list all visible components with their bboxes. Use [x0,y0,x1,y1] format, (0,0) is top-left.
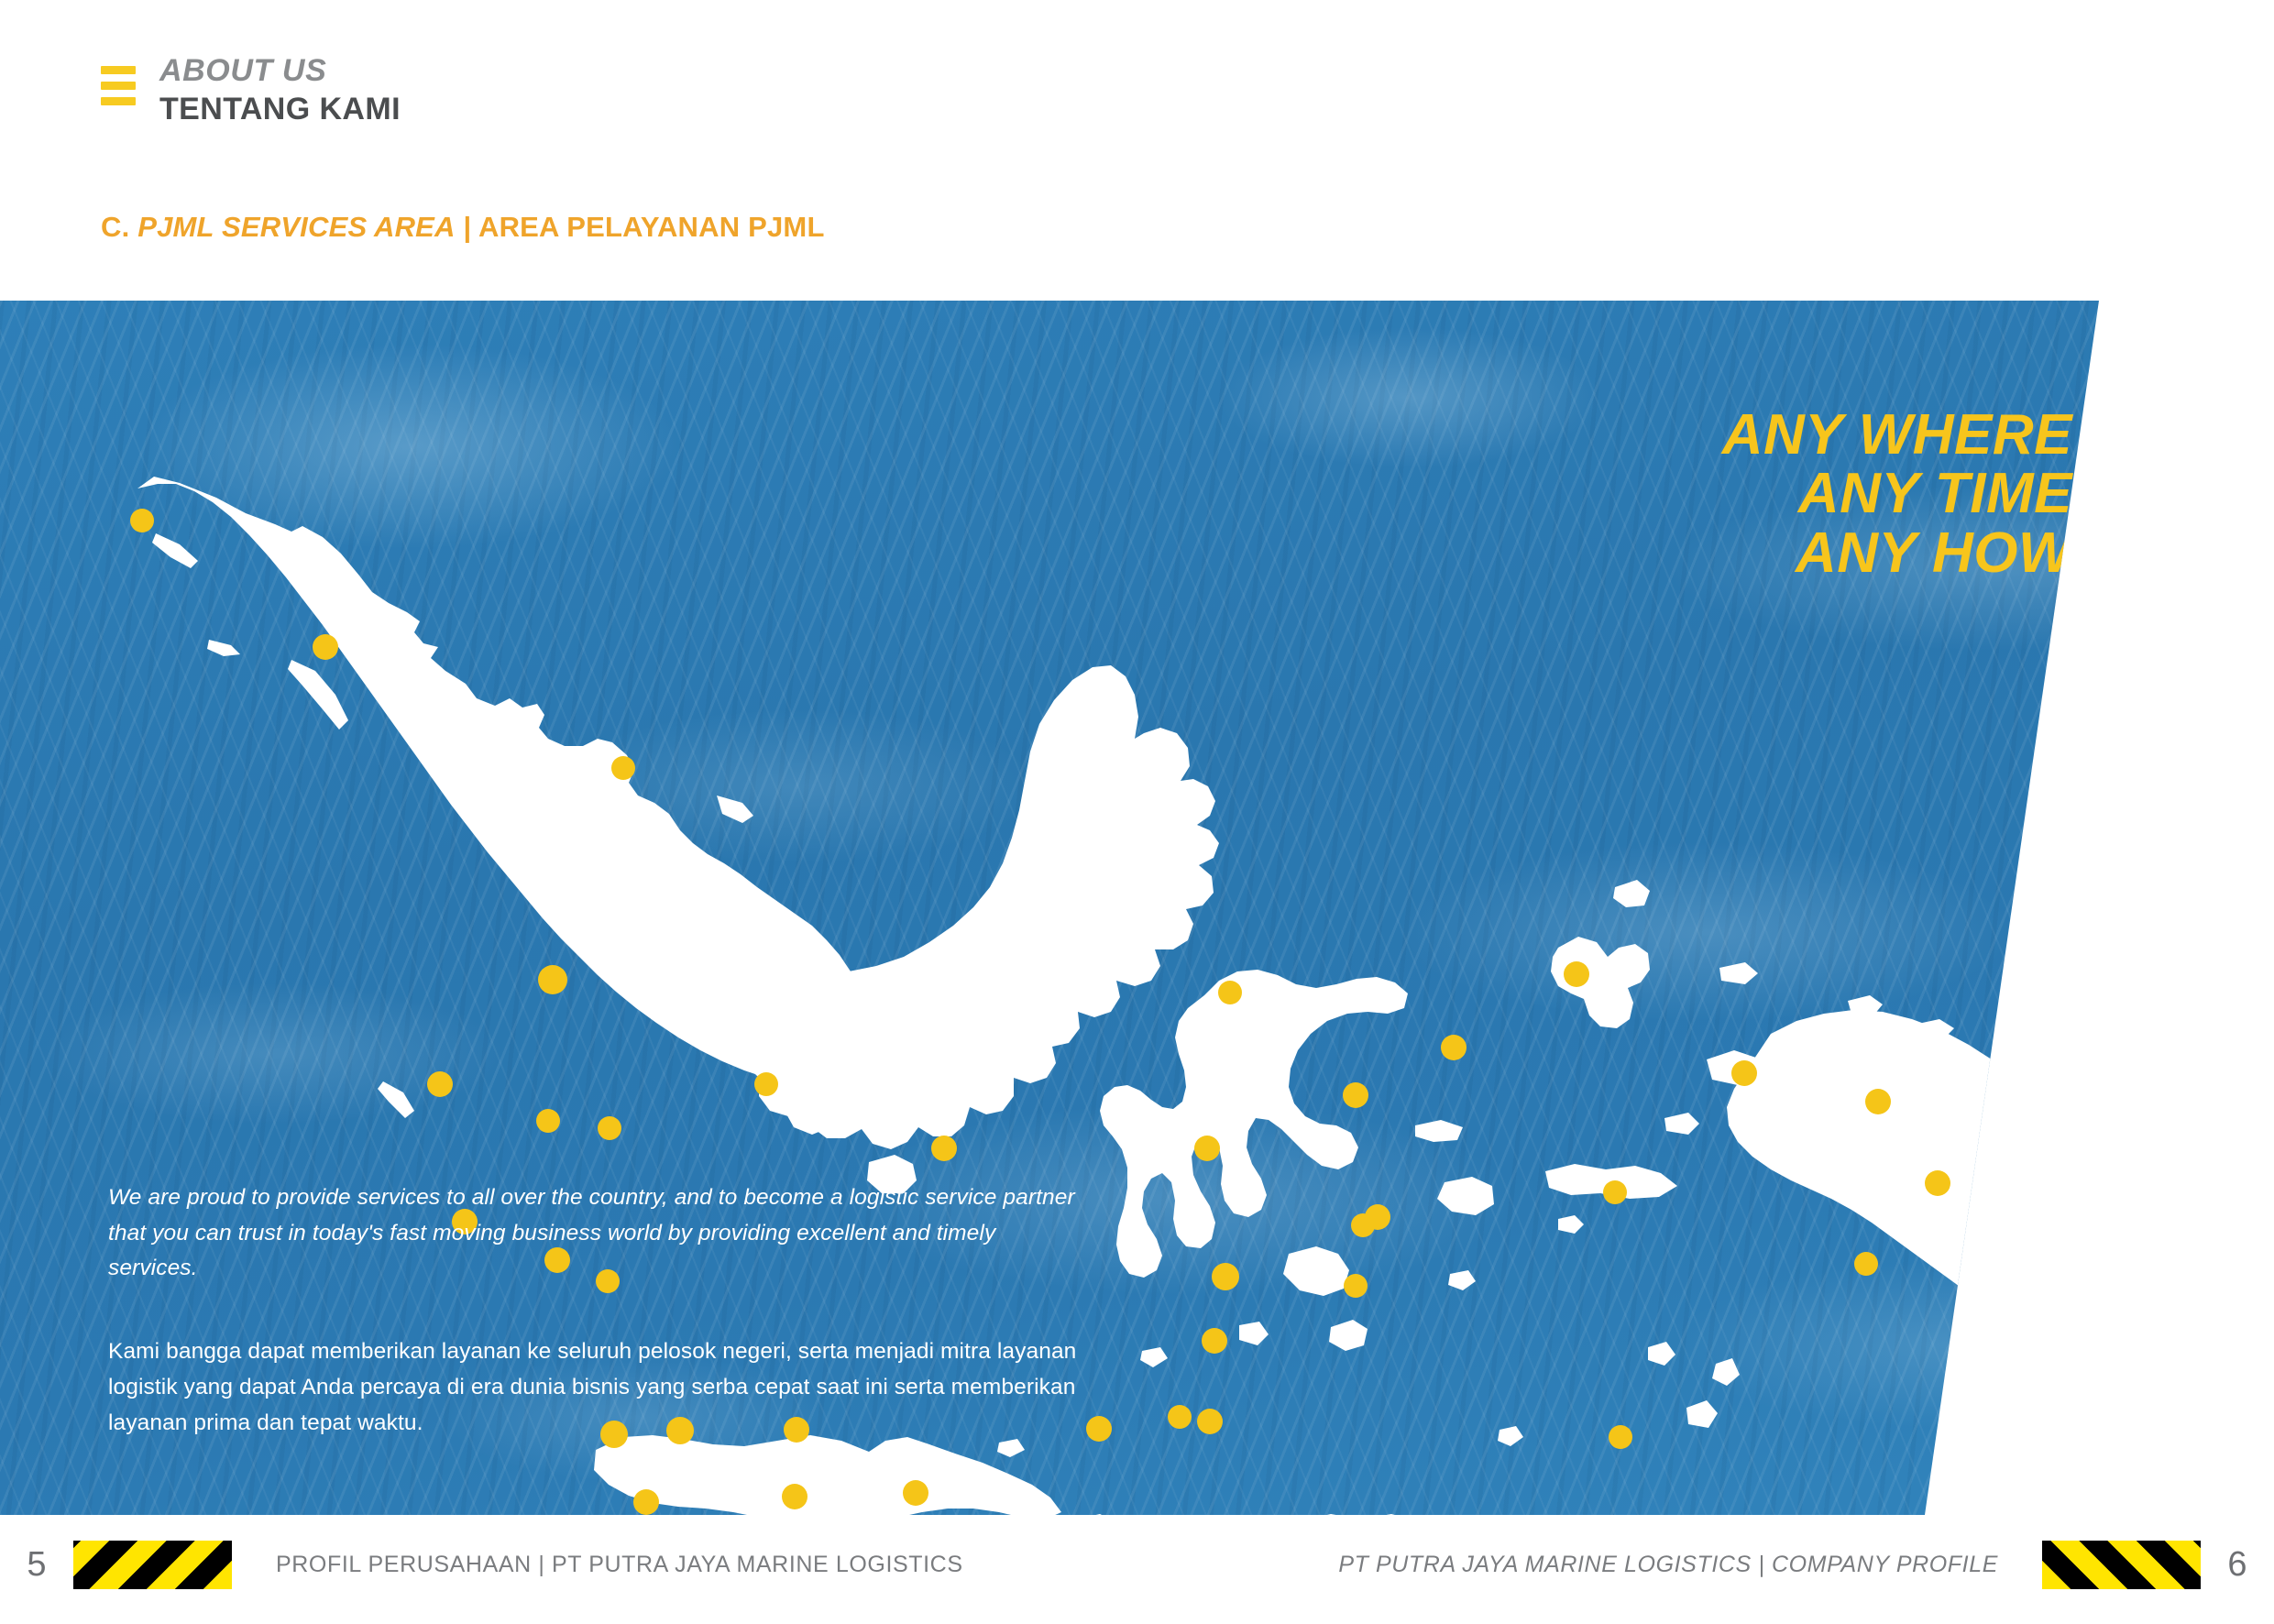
islet-3 [1140,1347,1168,1367]
description-block: We are proud to provide services to all … [108,1180,1080,1441]
island-selayar [1239,1322,1269,1345]
section-title-en: PJML SERVICES AREA [137,211,455,243]
hamburger-bar-2 [101,82,136,90]
hamburger-icon[interactable] [101,66,136,105]
section-title-id: AREA PELAYANAN PJML [478,211,825,243]
island-buton [1329,1320,1368,1351]
port-marker [538,965,567,994]
hamburger-bar-1 [101,66,136,74]
header-titles: ABOUT US TENTANG KAMI [159,55,401,125]
port-marker [1197,1409,1223,1434]
tagline-line-3: ANY HOW [1722,524,2072,583]
island-nias [152,533,198,568]
hazard-stripe-right [2042,1541,2201,1589]
tagline-line-1: ANY WHERE [1722,406,2072,465]
footer-text-right: PT PUTRA JAYA MARINE LOGISTICS | COMPANY… [1338,1552,1998,1578]
paragraph-indonesian: Kami bangga dapat memberikan layanan ke … [108,1334,1080,1441]
island-siberut [288,660,348,730]
island-sipora [378,1081,414,1118]
port-marker [313,634,338,660]
port-marker [1564,961,1589,987]
section-prefix: C. [101,211,137,243]
port-marker [1168,1405,1192,1429]
port-marker [1218,981,1242,1004]
port-marker [1609,1425,1632,1449]
island-sulawesi-se [1283,1246,1349,1296]
island-simeulue [207,640,240,656]
port-marker [931,1136,957,1161]
island-kei [1648,1342,1675,1366]
island-misool [1664,1113,1699,1135]
port-marker [598,1116,621,1140]
port-marker [1441,1035,1467,1060]
hazard-stripe-left [73,1541,232,1589]
island-halmahera [1551,937,1650,1028]
island-morotai [1613,880,1650,907]
port-marker [903,1480,928,1506]
port-marker [1343,1082,1368,1108]
page-title-en: ABOUT US [159,55,401,86]
island-sula [1415,1120,1463,1142]
island-aru [1712,1358,1740,1386]
islet-2 [1498,1426,1523,1446]
port-marker [611,756,635,780]
island-riau-1 [717,796,753,823]
section-heading: C. PJML SERVICES AREA | AREA PELAYANAN P… [101,211,825,244]
port-marker [2027,1214,2053,1240]
island-tanimbar [1686,1400,1718,1428]
footer-text-left: PROFIL PERUSAHAAN | PT PUTRA JAYA MARINE… [276,1552,963,1578]
port-marker [1344,1274,1368,1298]
port-marker [130,509,154,532]
islet-1 [1448,1270,1476,1290]
tagline-line-2: ANY TIME [1722,465,2072,523]
island-buru [1437,1177,1494,1215]
port-marker [1351,1213,1375,1237]
section-separator: | [456,211,478,243]
footer-left: 5 PROFIL PERUSAHAAN | PT PUTRA JAYA MARI… [0,1541,963,1589]
page-footer: 5 PROFIL PERUSAHAAN | PT PUTRA JAYA MARI… [0,1515,2274,1624]
tagline: ANY WHERE ANY TIME ANY HOW [1722,406,2072,583]
page-title-id: TENTANG KAMI [159,93,401,125]
port-marker [1194,1136,1220,1161]
paragraph-english: We are proud to provide services to all … [108,1180,1080,1287]
island-kalimantan [742,665,1219,1149]
page-header: ABOUT US TENTANG KAMI [101,55,401,125]
port-marker [633,1489,659,1515]
port-marker [1603,1180,1627,1204]
island-waigeo [1719,962,1758,984]
port-marker [754,1072,778,1096]
page-number-right: 6 [2201,1545,2274,1585]
island-java [594,1435,1061,1515]
island-ambon [1558,1215,1584,1234]
island-sumatra [137,477,867,1085]
port-marker [1854,1252,1878,1276]
port-marker [1731,1060,1757,1086]
port-marker [1865,1089,1891,1114]
port-marker [536,1109,560,1133]
port-marker [1202,1328,1227,1354]
page-number-left: 5 [0,1545,73,1585]
port-marker [427,1071,453,1097]
port-marker [782,1484,807,1509]
islet-4 [997,1439,1025,1457]
services-area-map-panel: ANY WHERE ANY TIME ANY HOW We are proud … [0,301,2274,1515]
port-marker [1212,1263,1239,1290]
port-marker [1086,1416,1112,1442]
hamburger-bar-3 [101,97,136,105]
port-marker [1925,1170,1950,1196]
footer-right: PT PUTRA JAYA MARINE LOGISTICS | COMPANY… [1338,1541,2274,1589]
